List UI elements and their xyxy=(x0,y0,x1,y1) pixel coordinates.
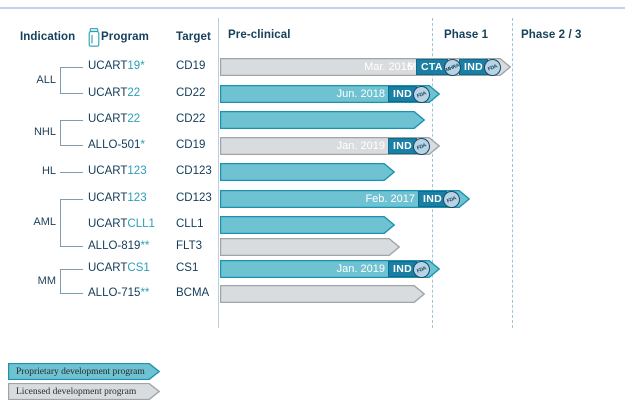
milestone-date: Mar. 2016 xyxy=(220,58,413,76)
program-target-code: 22 xyxy=(127,87,140,99)
indication-label: NHL xyxy=(16,126,56,138)
pipeline-bar[interactable]: INDFDAJun. 2018 xyxy=(220,85,440,103)
column-header-preclinical: Pre-clinical xyxy=(228,29,291,41)
legend-label: Licensed development program xyxy=(16,383,136,400)
target-label: CD123 xyxy=(176,165,212,177)
program-label[interactable]: ALLO-715** xyxy=(88,287,149,299)
legend-label: Proprietary development program xyxy=(16,363,145,380)
indication-bracket xyxy=(60,120,83,146)
pipeline-bar[interactable]: INDFDAFeb. 2017 xyxy=(220,190,470,208)
program-label[interactable]: UCARTCLL1 xyxy=(88,218,155,230)
target-label: CD19 xyxy=(176,60,205,72)
milestone-badge[interactable]: INDFDA xyxy=(418,191,460,207)
program-name: ALLO-501 xyxy=(88,139,140,151)
target-label: CLL1 xyxy=(176,218,204,230)
milestone-date: Jan. 2019 xyxy=(220,137,385,155)
legend-item: Licensed development program xyxy=(8,383,160,400)
indication-bracket xyxy=(60,199,83,247)
program-label[interactable]: ALLO-501* xyxy=(88,139,145,151)
milestone-date: Jun. 2018 xyxy=(220,85,385,103)
indication-bracket xyxy=(60,269,83,294)
bar-shape xyxy=(220,285,425,303)
target-label: FLT3 xyxy=(176,240,202,252)
target-label: BCMA xyxy=(176,287,209,299)
program-name: UCART xyxy=(88,87,127,99)
program-label[interactable]: UCARTCS1 xyxy=(88,262,150,274)
program-name: UCART xyxy=(88,218,127,230)
program-label[interactable]: UCART19* xyxy=(88,60,145,72)
pipeline-bar[interactable] xyxy=(220,111,425,129)
pipeline-bar[interactable] xyxy=(220,216,395,234)
program-footnote-mark: ** xyxy=(140,240,149,252)
program-name: ALLO-715 xyxy=(88,287,140,299)
legend-item: Proprietary development program xyxy=(8,363,160,380)
bar-shape xyxy=(220,238,400,256)
bar-shape xyxy=(220,111,425,129)
program-target-code: 19 xyxy=(127,60,140,72)
program-name: UCART xyxy=(88,262,127,274)
indication-bracket xyxy=(60,172,83,173)
indication-label: AML xyxy=(16,216,56,228)
program-target-code: CS1 xyxy=(127,262,149,274)
program-name: UCART xyxy=(88,60,127,72)
pipeline-bar[interactable] xyxy=(220,285,425,303)
column-header-phase-2-3: Phase 2 / 3 xyxy=(521,29,582,41)
program-target-code: 22 xyxy=(127,113,140,125)
indication-label: MM xyxy=(16,275,56,287)
pipeline-bar[interactable] xyxy=(220,163,395,181)
column-header-phase-1: Phase 1 xyxy=(444,29,488,41)
pipeline-chart: Indication Program Target Pre-clinical P… xyxy=(0,0,625,405)
program-label[interactable]: UCART123 xyxy=(88,165,147,177)
program-target-code: 123 xyxy=(127,192,146,204)
bar-shape xyxy=(220,163,395,181)
program-label[interactable]: UCART22 xyxy=(88,113,140,125)
column-header-indication: Indication xyxy=(20,31,75,43)
target-label: CD19 xyxy=(176,139,205,151)
column-header-target: Target xyxy=(176,31,211,43)
milestone-date: Jan. 2019 xyxy=(220,260,385,278)
program-label[interactable]: UCART123 xyxy=(88,192,147,204)
program-footnote-mark: * xyxy=(140,139,144,151)
program-target-code: 123 xyxy=(127,165,146,177)
indication-label: ALL xyxy=(16,74,56,86)
target-label: CD22 xyxy=(176,113,205,125)
timeline-axis xyxy=(218,18,219,328)
indication-label: HL xyxy=(16,165,56,177)
milestone-badge[interactable]: CTAMHRA xyxy=(416,59,461,75)
program-footnote-mark: * xyxy=(140,60,144,72)
pipeline-bar[interactable] xyxy=(220,238,400,256)
program-label[interactable]: ALLO-819** xyxy=(88,240,149,252)
milestone-date: Feb. 2017 xyxy=(220,190,415,208)
program-footnote-mark: ** xyxy=(140,287,149,299)
bar-shape xyxy=(220,216,395,234)
pipeline-bar[interactable]: INDFDAJan. 2019 xyxy=(220,260,440,278)
pipeline-bar[interactable]: INDFDAJan. 2019 xyxy=(220,137,440,155)
program-name: UCART xyxy=(88,192,127,204)
phase-2-3-divider xyxy=(512,18,513,328)
milestone-badge[interactable]: INDFDA xyxy=(388,86,430,102)
program-name: UCART xyxy=(88,165,127,177)
target-label: CS1 xyxy=(176,262,198,274)
milestone-badge[interactable]: INDFDA xyxy=(388,261,430,277)
program-name: ALLO-819 xyxy=(88,240,140,252)
milestone-badge[interactable]: INDFDA xyxy=(388,138,430,154)
pipeline-bar[interactable]: INDFDAMar. 2017CTAMHRAMar. 2016 xyxy=(220,58,511,76)
vial-icon xyxy=(88,28,100,47)
top-divider xyxy=(0,7,625,9)
program-name: UCART xyxy=(88,113,127,125)
column-header-program: Program xyxy=(101,31,149,43)
target-label: CD123 xyxy=(176,192,212,204)
milestone-badge[interactable]: INDFDA xyxy=(459,59,501,75)
program-label[interactable]: UCART22 xyxy=(88,87,140,99)
program-target-code: CLL1 xyxy=(127,218,155,230)
indication-bracket xyxy=(60,67,83,94)
target-label: CD22 xyxy=(176,87,205,99)
